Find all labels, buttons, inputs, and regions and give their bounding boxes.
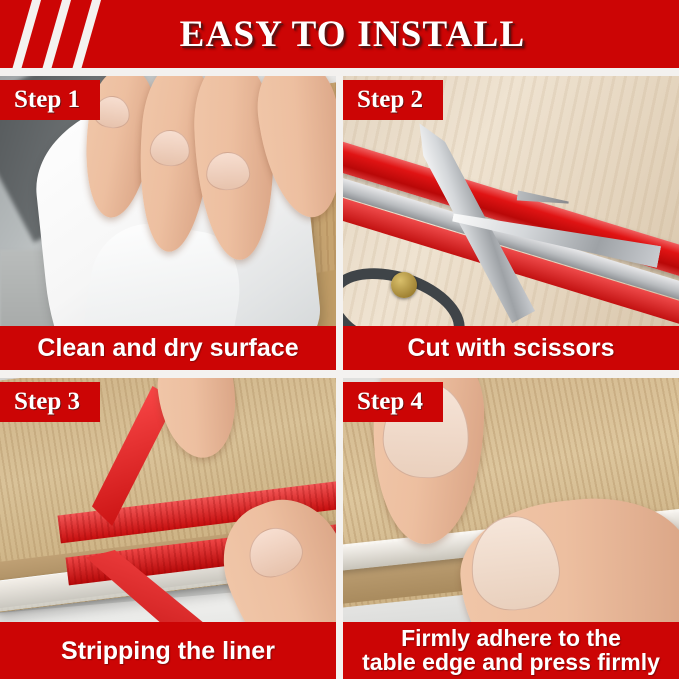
grid-gutter-horizontal (0, 370, 336, 378)
grid-gutter-vertical-bottom (336, 378, 343, 679)
step-caption-text: Cut with scissors (408, 335, 615, 361)
step-badge-label: Step 2 (357, 86, 423, 114)
scissor-pivot-screw (391, 272, 417, 298)
step-caption-1: Clean and dry surface (0, 326, 336, 370)
page-title: EASY TO INSTALL (0, 0, 679, 68)
infographic-page: EASY TO INSTALL Step 1 (0, 0, 679, 679)
step-caption-2: Cut with scissors (343, 326, 679, 370)
grid-gutter-center (336, 370, 343, 378)
step-caption-text: Clean and dry surface (37, 335, 298, 361)
header-banner: EASY TO INSTALL (0, 0, 679, 68)
step-panel-1: Step 1 Clean and dry surface (0, 76, 336, 370)
step-badge-4: Step 4 (343, 382, 443, 422)
step-badge-label: Step 4 (357, 388, 423, 416)
step-caption-text: Firmly adhere to the table edge and pres… (362, 627, 660, 675)
step-caption-3: Stripping the liner (0, 622, 336, 679)
step-panel-3: Step 3 Stripping the liner (0, 378, 336, 679)
steps-grid: Step 1 Clean and dry surface Step 2 (0, 76, 679, 679)
step-caption-text: Stripping the liner (61, 638, 275, 664)
step-badge-label: Step 3 (14, 388, 80, 416)
step-caption-4: Firmly adhere to the table edge and pres… (343, 622, 679, 679)
step-badge-3: Step 3 (0, 382, 100, 422)
step-badge-1: Step 1 (0, 80, 100, 120)
step-badge-label: Step 1 (14, 86, 80, 114)
step-badge-2: Step 2 (343, 80, 443, 120)
grid-gutter-horizontal-right (343, 370, 679, 378)
step-panel-2: Step 2 Cut with scissors (343, 76, 679, 370)
step-panel-4: Step 4 Firmly adhere to the table edge a… (343, 378, 679, 679)
grid-gutter-vertical (336, 76, 343, 370)
